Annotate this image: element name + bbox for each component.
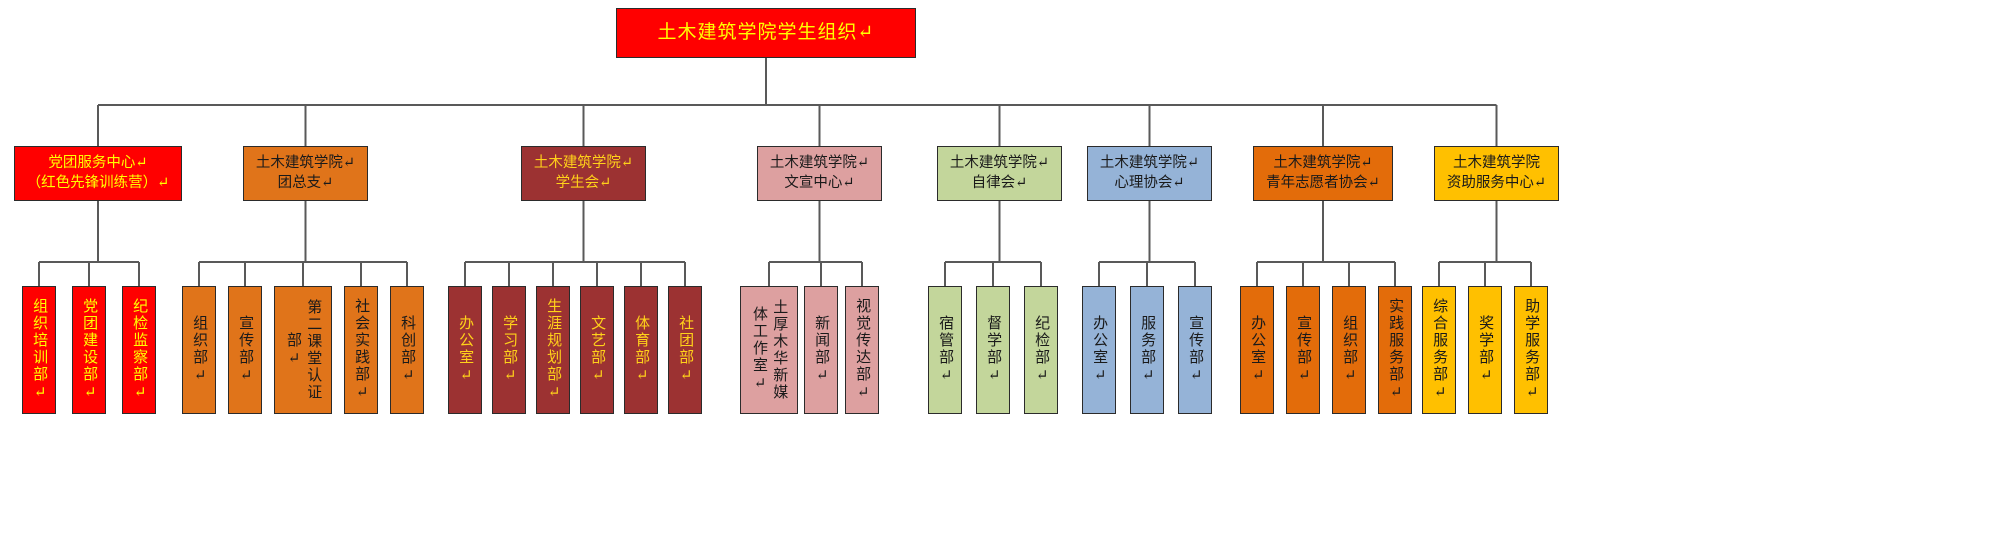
leaf-volunteer-office-label: 办公室↵ [1247, 315, 1267, 386]
leaf-psych-propaganda-dept[interactable]: 宣传部↵ [1178, 286, 1212, 414]
leaf-second-classroom-certification-dept-label: 第二课堂认证部↵ [283, 293, 324, 407]
leaf-student-aid-service-dept-label: 助学服务部↵ [1521, 298, 1541, 403]
leaf-science-innovation-dept-label: 科创部↵ [397, 315, 417, 386]
branch-party-league-service-center[interactable]: 党团服务中心↵ （红色先锋训练营）↵ [14, 146, 182, 201]
branch-psychology-association-label: 土木建筑学院↵ 心理协会↵ [1088, 154, 1211, 193]
leaf-supervision-study-dept-label: 督学部↵ [983, 315, 1003, 386]
leaf-visual-communication-dept[interactable]: 视觉传达部↵ [845, 286, 879, 414]
root-label: 土木建筑学院学生组织↵ [617, 20, 915, 46]
branch-student-union-label: 土木建筑学院↵ 学生会↵ [522, 154, 645, 193]
leaf-volunteer-organization-dept[interactable]: 组织部↵ [1332, 286, 1366, 414]
leaf-tuhou-muhua-new-media-studio[interactable]: 土厚木华新媒体工作室↵ [740, 286, 798, 414]
leaf-tuhou-muhua-new-media-studio-label: 土厚木华新媒体工作室↵ [749, 293, 790, 407]
leaf-visual-communication-dept-label: 视觉传达部↵ [852, 298, 872, 403]
leaf-social-practice-dept[interactable]: 社会实践部↵ [344, 286, 378, 414]
leaf-psych-office-label: 办公室↵ [1089, 315, 1109, 386]
leaf-organization-dept-label: 组织部↵ [189, 315, 209, 386]
leaf-social-practice-dept-label: 社会实践部↵ [351, 298, 371, 403]
leaf-organization-dept[interactable]: 组织部↵ [182, 286, 216, 414]
leaf-office-label: 办公室↵ [455, 315, 475, 386]
leaf-science-innovation-dept[interactable]: 科创部↵ [390, 286, 424, 414]
branch-self-discipline-association[interactable]: 土木建筑学院↵ 自律会↵ [937, 146, 1062, 201]
leaf-volunteer-organization-dept-label: 组织部↵ [1339, 315, 1359, 386]
leaf-propaganda-dept[interactable]: 宣传部↵ [228, 286, 262, 414]
branch-student-union[interactable]: 土木建筑学院↵ 学生会↵ [521, 146, 646, 201]
leaf-psych-propaganda-dept-label: 宣传部↵ [1185, 315, 1205, 386]
branch-self-discipline-association-label: 土木建筑学院↵ 自律会↵ [938, 154, 1061, 193]
leaf-volunteer-propaganda-dept[interactable]: 宣传部↵ [1286, 286, 1320, 414]
leaf-practice-service-dept[interactable]: 实践服务部↵ [1378, 286, 1412, 414]
branch-psychology-association[interactable]: 土木建筑学院↵ 心理协会↵ [1087, 146, 1212, 201]
leaf-dormitory-management-dept-label: 宿管部↵ [935, 315, 955, 386]
leaf-volunteer-propaganda-dept-label: 宣传部↵ [1293, 315, 1313, 386]
leaf-volunteer-office[interactable]: 办公室↵ [1240, 286, 1274, 414]
leaf-scholarship-dept-label: 奖学部↵ [1475, 315, 1495, 386]
leaf-comprehensive-service-dept-label: 综合服务部↵ [1429, 298, 1449, 403]
leaf-practice-service-dept-label: 实践服务部↵ [1385, 298, 1405, 403]
branch-league-general-branch[interactable]: 土木建筑学院↵ 团总支↵ [243, 146, 368, 201]
leaf-scholarship-dept[interactable]: 奖学部↵ [1468, 286, 1502, 414]
leaf-organization-training-dept-label: 组织培训部↵ [29, 298, 49, 403]
leaf-supervision-study-dept[interactable]: 督学部↵ [976, 286, 1010, 414]
leaf-comprehensive-service-dept[interactable]: 综合服务部↵ [1422, 286, 1456, 414]
leaf-study-dept[interactable]: 学习部↵ [492, 286, 526, 414]
branch-funding-service-center[interactable]: 土木建筑学院 资助服务中心↵ [1434, 146, 1559, 201]
leaf-party-league-construction-dept[interactable]: 党团建设部↵ [72, 286, 106, 414]
leaf-career-planning-dept[interactable]: 生涯规划部↵ [536, 286, 570, 414]
branch-party-league-service-center-label: 党团服务中心↵ （红色先锋训练营）↵ [15, 154, 181, 193]
connector-lines [0, 0, 2016, 548]
leaf-party-league-construction-dept-label: 党团建设部↵ [79, 298, 99, 403]
leaf-study-dept-label: 学习部↵ [499, 315, 519, 386]
branch-funding-service-center-label: 土木建筑学院 资助服务中心↵ [1435, 154, 1558, 193]
org-chart-canvas: 土木建筑学院学生组织↵党团服务中心↵ （红色先锋训练营）↵组织培训部↵党团建设部… [0, 0, 2016, 548]
leaf-news-dept[interactable]: 新闻部↵ [804, 286, 838, 414]
leaf-discipline-inspection-supervision-dept-label: 纪检监察部↵ [129, 298, 149, 403]
leaf-news-dept-label: 新闻部↵ [811, 315, 831, 386]
leaf-club-dept-label: 社团部↵ [675, 315, 695, 386]
root[interactable]: 土木建筑学院学生组织↵ [616, 8, 916, 58]
branch-youth-volunteer-association-label: 土木建筑学院↵ 青年志愿者协会↵ [1254, 154, 1392, 193]
branch-publicity-center-label: 土木建筑学院↵ 文宣中心↵ [758, 154, 881, 193]
leaf-sports-dept-label: 体育部↵ [631, 315, 651, 386]
leaf-sports-dept[interactable]: 体育部↵ [624, 286, 658, 414]
branch-league-general-branch-label: 土木建筑学院↵ 团总支↵ [244, 154, 367, 193]
leaf-propaganda-dept-label: 宣传部↵ [235, 315, 255, 386]
leaf-career-planning-dept-label: 生涯规划部↵ [543, 298, 563, 403]
leaf-psych-office[interactable]: 办公室↵ [1082, 286, 1116, 414]
leaf-discipline-inspection-dept-label: 纪检部↵ [1031, 315, 1051, 386]
leaf-organization-training-dept[interactable]: 组织培训部↵ [22, 286, 56, 414]
leaf-service-dept[interactable]: 服务部↵ [1130, 286, 1164, 414]
branch-publicity-center[interactable]: 土木建筑学院↵ 文宣中心↵ [757, 146, 882, 201]
leaf-club-dept[interactable]: 社团部↵ [668, 286, 702, 414]
branch-youth-volunteer-association[interactable]: 土木建筑学院↵ 青年志愿者协会↵ [1253, 146, 1393, 201]
leaf-discipline-inspection-supervision-dept[interactable]: 纪检监察部↵ [122, 286, 156, 414]
leaf-literature-art-dept-label: 文艺部↵ [587, 315, 607, 386]
leaf-discipline-inspection-dept[interactable]: 纪检部↵ [1024, 286, 1058, 414]
leaf-office[interactable]: 办公室↵ [448, 286, 482, 414]
leaf-student-aid-service-dept[interactable]: 助学服务部↵ [1514, 286, 1548, 414]
leaf-literature-art-dept[interactable]: 文艺部↵ [580, 286, 614, 414]
leaf-dormitory-management-dept[interactable]: 宿管部↵ [928, 286, 962, 414]
leaf-service-dept-label: 服务部↵ [1137, 315, 1157, 386]
leaf-second-classroom-certification-dept[interactable]: 第二课堂认证部↵ [274, 286, 332, 414]
